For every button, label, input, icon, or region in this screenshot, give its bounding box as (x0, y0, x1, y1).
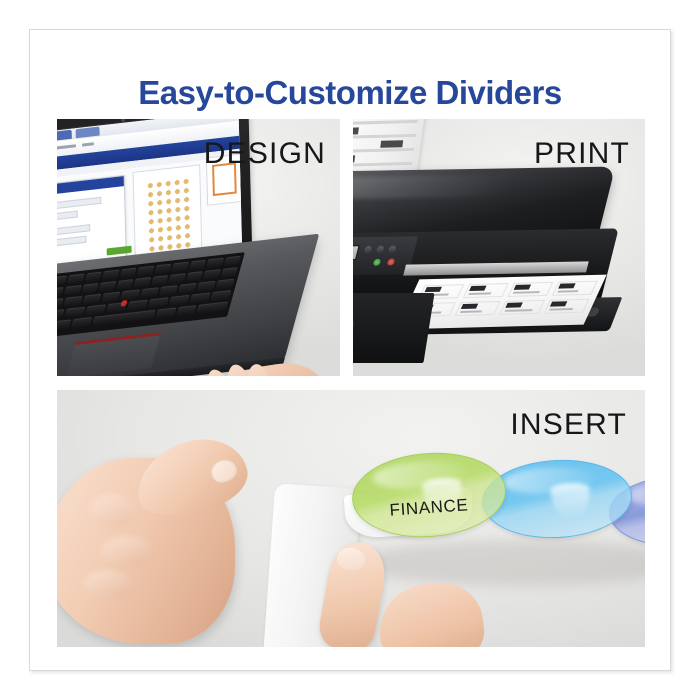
apply-button[interactable] (119, 246, 132, 254)
panel-insert: FINANCE INSERT (57, 390, 645, 647)
panel-print: PRINT (353, 119, 645, 376)
pattern-swatch (146, 177, 192, 258)
laptop-keyboard[interactable] (57, 252, 245, 341)
dialog-field (57, 210, 78, 224)
printer-button[interactable] (388, 246, 397, 253)
hand-on-keyboard (172, 358, 322, 376)
printer-base (353, 293, 435, 363)
printer-port (353, 321, 354, 341)
panel-design: DESIGN (57, 119, 340, 376)
printer-lcd-display (353, 245, 360, 260)
lid-highlight (353, 174, 513, 199)
right-hand (295, 542, 515, 647)
product-card: Easy-to-Customize Dividers (29, 29, 671, 671)
toolbar-item (82, 142, 94, 146)
panel-label-print: PRINT (534, 137, 630, 171)
printer-button[interactable] (364, 246, 373, 253)
laptop-touchpad[interactable] (66, 332, 162, 376)
toolbar-item (57, 144, 76, 149)
panel-label-insert: INSERT (510, 408, 627, 442)
left-hand (57, 420, 323, 647)
printer-button[interactable] (376, 246, 385, 253)
dialog-field (57, 236, 87, 251)
dialog-titlebar (57, 176, 124, 199)
middle-finger (375, 579, 487, 647)
page-title: Easy-to-Customize Dividers (30, 74, 670, 112)
printer-stop-button[interactable] (387, 258, 396, 265)
panel-label-design: DESIGN (204, 137, 326, 171)
printer-start-button[interactable] (373, 259, 382, 266)
